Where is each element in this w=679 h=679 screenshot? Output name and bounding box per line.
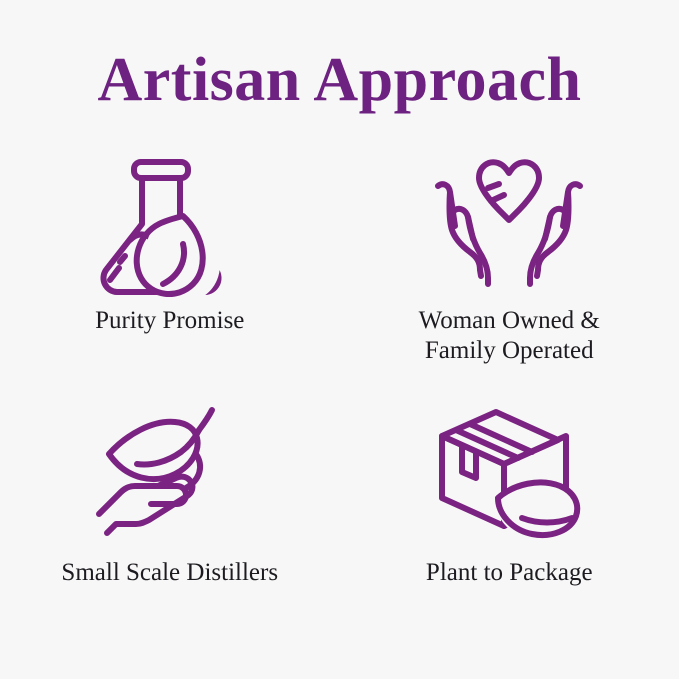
leaf-in-hand-icon bbox=[95, 408, 245, 528]
hands-heart-icon bbox=[424, 156, 594, 286]
box-leaf-icon bbox=[434, 406, 584, 531]
feature-item-woman-owned: Woman Owned & Family Operated bbox=[340, 150, 679, 400]
feature-icon-slot bbox=[424, 150, 594, 292]
feature-label: Purity Promise bbox=[95, 306, 244, 336]
feature-icon-slot bbox=[95, 150, 245, 292]
feature-label: Plant to Package bbox=[426, 558, 593, 588]
page-title: Artisan Approach bbox=[0, 44, 679, 116]
artisan-approach-panel: Artisan Approach bbox=[0, 0, 679, 679]
feature-grid: Purity Promise bbox=[0, 150, 679, 650]
feature-item-purity-promise: Purity Promise bbox=[0, 150, 340, 400]
feature-label: Woman Owned & Family Operated bbox=[419, 306, 600, 366]
feature-icon-slot bbox=[434, 400, 584, 536]
feature-item-plant-to-package: Plant to Package bbox=[340, 400, 679, 650]
feature-label: Small Scale Distillers bbox=[61, 558, 278, 588]
feature-icon-slot bbox=[95, 400, 245, 536]
flask-leaf-icon bbox=[95, 150, 245, 292]
feature-item-small-scale: Small Scale Distillers bbox=[0, 400, 340, 650]
